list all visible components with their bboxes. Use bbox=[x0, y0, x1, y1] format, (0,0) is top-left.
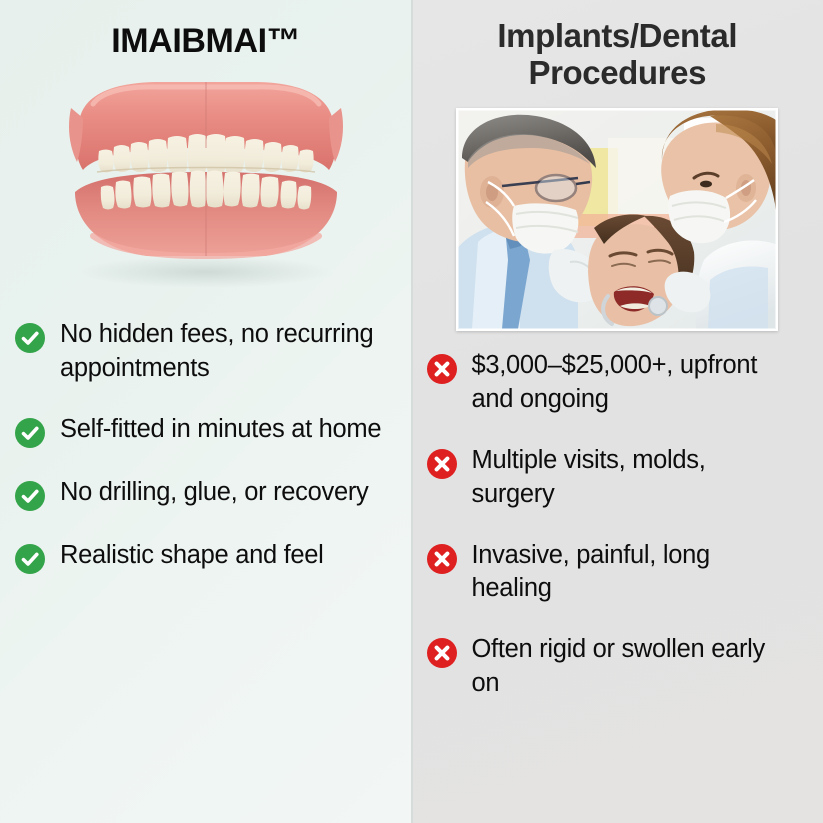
left-benefits-list: No hidden fees, no recurring appointment… bbox=[0, 318, 412, 575]
dentures-illustration bbox=[41, 74, 371, 296]
check-circle-icon bbox=[14, 543, 46, 575]
check-circle-icon bbox=[14, 480, 46, 512]
dental-procedure-image bbox=[412, 108, 823, 331]
dentures-image bbox=[0, 70, 412, 300]
right-column-title-line2: Procedures bbox=[430, 55, 806, 92]
list-item-label: Invasive, painful, long healing bbox=[472, 539, 792, 607]
list-item-label: Realistic shape and feel bbox=[60, 539, 324, 573]
list-item: Realistic shape and feel bbox=[14, 539, 396, 575]
left-column-title: IMAIBMAI™ bbox=[0, 22, 412, 60]
check-circle-icon bbox=[14, 417, 46, 449]
x-circle-icon bbox=[426, 637, 458, 669]
dental-procedure-illustration bbox=[458, 110, 776, 329]
x-circle-icon bbox=[426, 353, 458, 385]
list-item: No drilling, glue, or recovery bbox=[14, 476, 396, 512]
list-item-label: Often rigid or swollen early on bbox=[472, 633, 792, 701]
list-item: No hidden fees, no recurring appointment… bbox=[14, 318, 396, 386]
check-circle-icon bbox=[14, 322, 46, 354]
list-item: Invasive, painful, long healing bbox=[426, 539, 808, 607]
list-item: Often rigid or swollen early on bbox=[426, 633, 808, 701]
right-column-title-line1: Implants/Dental bbox=[430, 18, 806, 55]
left-column-imaibmai: IMAIBMAI™ bbox=[0, 0, 412, 823]
list-item-label: No hidden fees, no recurring appointment… bbox=[60, 318, 390, 386]
list-item: Self-fitted in minutes at home bbox=[14, 413, 396, 449]
list-item: $3,000–$25,000+, upfront and ongoing bbox=[426, 349, 808, 417]
x-circle-icon bbox=[426, 448, 458, 480]
column-divider bbox=[411, 0, 413, 823]
list-item-label: Multiple visits, molds, surgery bbox=[472, 444, 792, 512]
list-item-label: No drilling, glue, or recovery bbox=[60, 476, 368, 510]
list-item-label: Self-fitted in minutes at home bbox=[60, 413, 381, 447]
right-column-title: Implants/Dental Procedures bbox=[412, 18, 823, 92]
right-drawbacks-list: $3,000–$25,000+, upfront and ongoing Mul… bbox=[412, 349, 823, 701]
comparison-infographic: IMAIBMAI™ bbox=[0, 0, 823, 823]
photo-frame bbox=[456, 108, 778, 331]
x-circle-icon bbox=[426, 543, 458, 575]
list-item: Multiple visits, molds, surgery bbox=[426, 444, 808, 512]
right-column-implants: Implants/Dental Procedures bbox=[412, 0, 823, 823]
list-item-label: $3,000–$25,000+, upfront and ongoing bbox=[472, 349, 792, 417]
